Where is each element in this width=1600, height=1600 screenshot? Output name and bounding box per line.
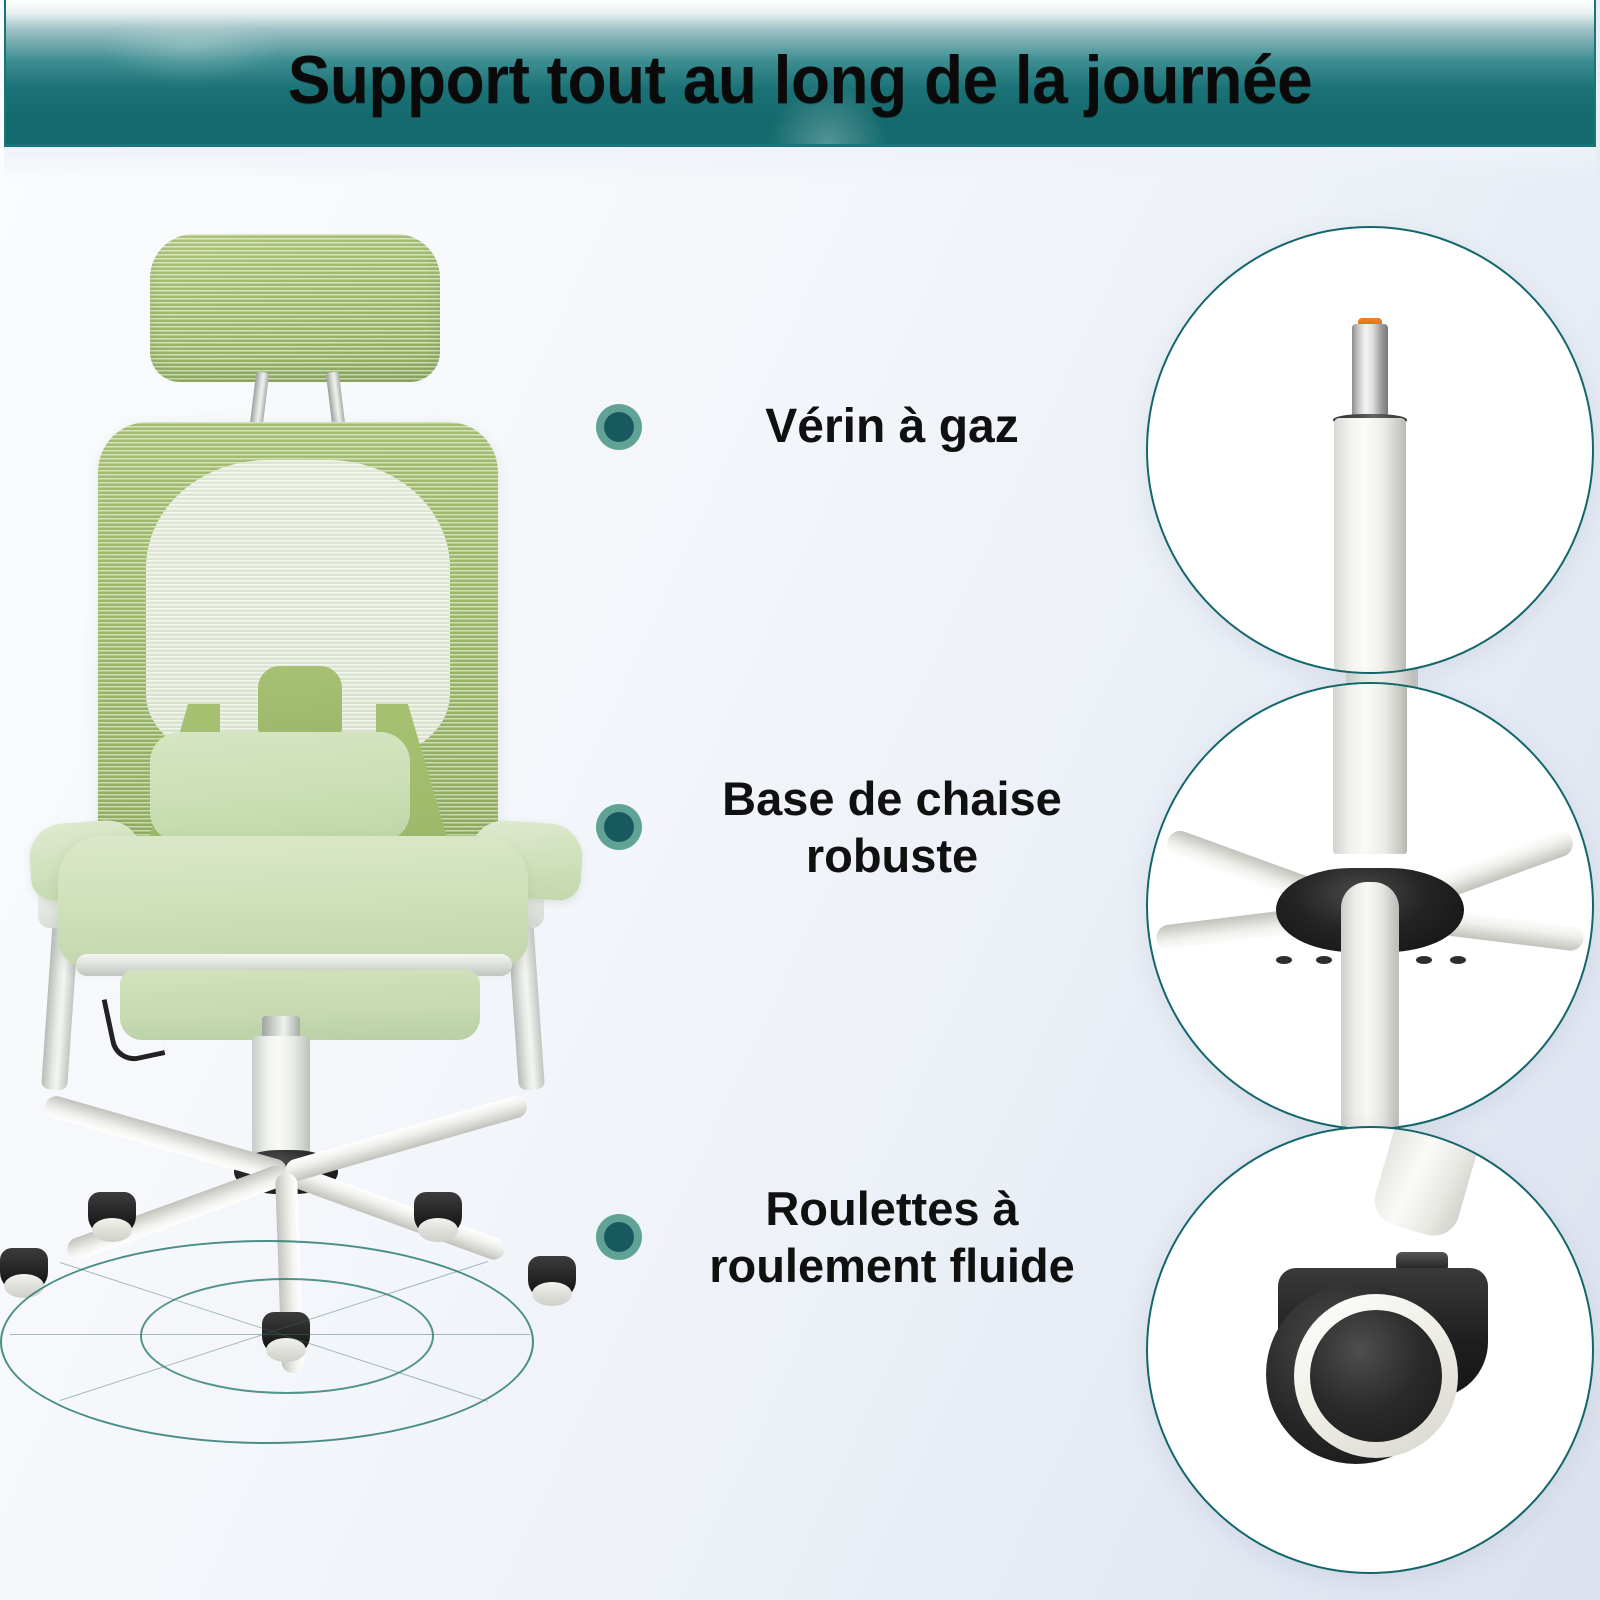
feature-item-casters[interactable]: Roulettes à roulement fluide bbox=[596, 1180, 1136, 1295]
caster-wheel-4 bbox=[528, 1256, 576, 1300]
bullet-dot-icon bbox=[596, 804, 642, 850]
caster-wheel-3 bbox=[414, 1192, 462, 1236]
base-column-upper bbox=[1333, 682, 1407, 854]
caster-detail-hub-face bbox=[1310, 1310, 1442, 1442]
header-banner: Support tout au long de la journée bbox=[4, 0, 1596, 144]
feature-item-chair-base[interactable]: Base de chaise robuste bbox=[596, 770, 1136, 885]
detail-circle-caster-wheel bbox=[1146, 1126, 1594, 1574]
caster-wheel-1 bbox=[88, 1192, 136, 1236]
detail-circle-chair-base bbox=[1146, 682, 1594, 1130]
base-hub-screw-4 bbox=[1450, 956, 1466, 964]
feature-item-gas-cylinder[interactable]: Vérin à gaz bbox=[596, 398, 1136, 457]
base-hub-screw-3 bbox=[1416, 956, 1432, 964]
gas-cylinder-barrel bbox=[1334, 418, 1406, 674]
banner-sheen-glow-secondary bbox=[101, 12, 281, 82]
bullet-dot-icon bbox=[596, 404, 642, 450]
caster-detail-stem bbox=[1369, 1126, 1481, 1242]
product-chair-illustration bbox=[0, 150, 600, 1550]
feature-label-casters: Roulettes à roulement fluide bbox=[652, 1180, 1136, 1295]
caster-wheel-2 bbox=[0, 1248, 48, 1292]
base-hub-screw-2 bbox=[1316, 956, 1332, 964]
feature-label-chair-base: Base de chaise robuste bbox=[652, 770, 1136, 885]
gas-cylinder-chrome-rod bbox=[1352, 324, 1388, 424]
base-leg-4 bbox=[283, 1094, 529, 1184]
bullet-dot-icon bbox=[596, 1214, 642, 1260]
backrest-lumbar-tab bbox=[258, 666, 342, 738]
chair-headrest bbox=[150, 234, 440, 382]
chair-seat-cushion bbox=[58, 836, 528, 966]
feature-label-gas-cylinder: Vérin à gaz bbox=[652, 398, 1136, 457]
gas-lift-column bbox=[252, 1036, 310, 1162]
chair-lumbar-cushion bbox=[150, 732, 410, 842]
base-hub-screw-1 bbox=[1276, 956, 1292, 964]
infographic-page: Support tout au long de la journée bbox=[0, 0, 1600, 1600]
detail-circle-gas-cylinder bbox=[1146, 226, 1594, 674]
page-title: Support tout au long de la journée bbox=[288, 41, 1312, 119]
base-column-lower bbox=[1341, 882, 1399, 1130]
feature-list: Vérin à gaz Base de chaise robuste Roule… bbox=[596, 150, 1136, 1600]
floor-guide-spoke-1 bbox=[10, 1334, 530, 1335]
chair-footrest bbox=[120, 970, 480, 1040]
